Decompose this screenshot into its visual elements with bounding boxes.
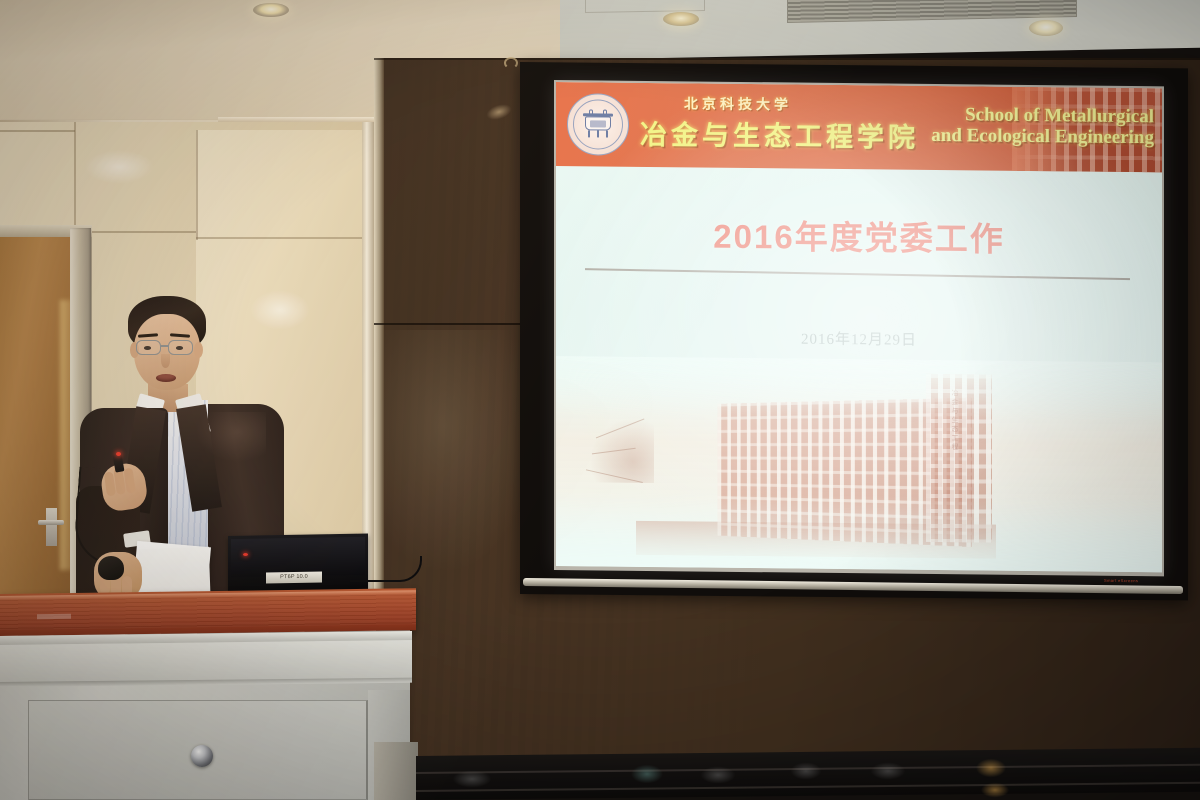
slide-building-artwork: 冶金与生态工程 [556,356,1162,572]
wall-seam-vertical [196,130,198,240]
eyeglasses-lens-right [168,340,193,355]
band-reflection [980,782,1010,798]
downlight-icon [1029,20,1063,36]
lectern-faint-marking [37,614,71,619]
downlight-icon [253,3,289,17]
ear-right [194,342,203,358]
remote-led-indicator [116,452,121,456]
laptop-power-led [243,553,248,556]
banner-university-name: 北京科技大学 [684,93,792,114]
wall-seam [196,237,372,239]
band-reflection [452,770,492,788]
projected-slide: 北京科技大学 冶金与生态工程学院 School of Metallurgical… [556,82,1162,572]
wood-sheen [384,330,534,570]
lecture-hall-photo: 北京科技大学 冶金与生态工程学院 School of Metallurgical… [0,0,1200,800]
band-reflection [700,766,736,784]
lectern-lock-knob[interactable] [191,745,213,767]
slide-title: 2016年度党委工作 [556,208,1162,262]
screen-bar-branding: Smart eScreens [1104,578,1138,583]
jacket-highlight [196,412,266,462]
door-handle[interactable] [38,520,64,525]
ceiling-panel-outline [585,0,705,13]
laptop-cable [350,556,422,582]
eyeglasses-bridge [161,345,168,347]
microphone[interactable] [98,556,124,580]
banner-en-line1: School of Metallurgical [931,104,1154,127]
band-reflection [790,762,822,780]
banner-school-name-en: School of Metallurgical and Ecological E… [931,104,1154,148]
downlight-icon [663,12,699,26]
nose [161,354,170,368]
band-reflection [630,764,664,784]
band-reflection [975,758,1007,778]
banner-school-name-cn: 冶金与生态工程学院 [640,113,919,155]
lectern-upper-face [0,640,412,683]
door-lock-plate [46,508,57,546]
wall-seam [0,130,75,132]
wood-seam [374,323,534,325]
ding-vessel-icon [583,110,613,138]
slide-date: 2016年12月29日 [556,325,1162,352]
ustb-seal-logo [567,93,629,156]
band-reflection [870,762,906,780]
cable-hook-icon [504,57,518,69]
eyeglasses-lens-left [136,340,161,355]
laptop-label: PT6P 10.0 [266,572,322,584]
slide-divider-rule [585,268,1130,280]
banner-en-line2: and Ecological Engineering [931,125,1154,148]
wall-seam-vertical [74,122,76,232]
wood-seam [374,58,1200,60]
slide-banner: 北京科技大学 冶金与生态工程学院 School of Metallurgical… [556,82,1162,172]
baseboard [374,742,418,800]
mouth [156,374,176,382]
artwork-haze-overlay [556,356,1162,572]
